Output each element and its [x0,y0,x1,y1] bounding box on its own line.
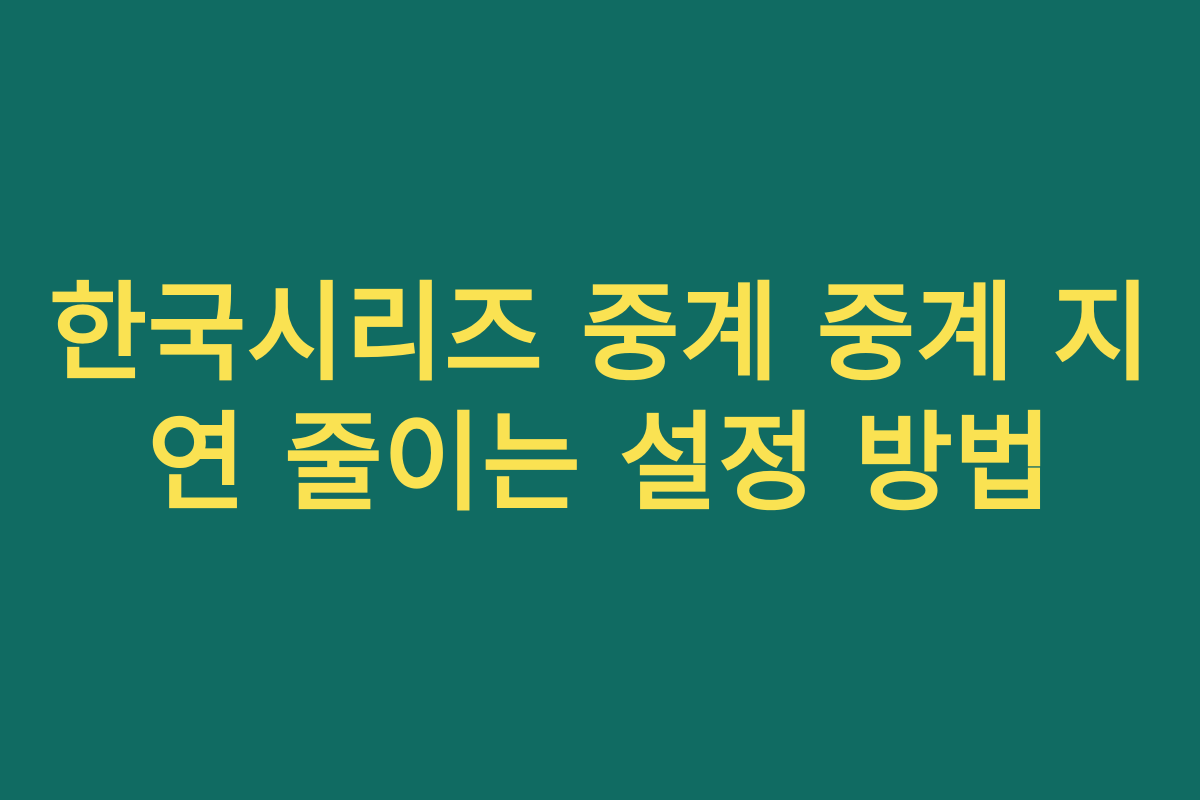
title-line-2: 연 줄이는 설정 방법 [148,399,1053,529]
title-text-block: 한국시리즈 중계 중계 지 연 줄이는 설정 방법 [40,269,1160,529]
title-line-1: 한국시리즈 중계 중계 지 [49,269,1152,399]
title-thumbnail-card: 한국시리즈 중계 중계 지 연 줄이는 설정 방법 [0,0,1200,800]
